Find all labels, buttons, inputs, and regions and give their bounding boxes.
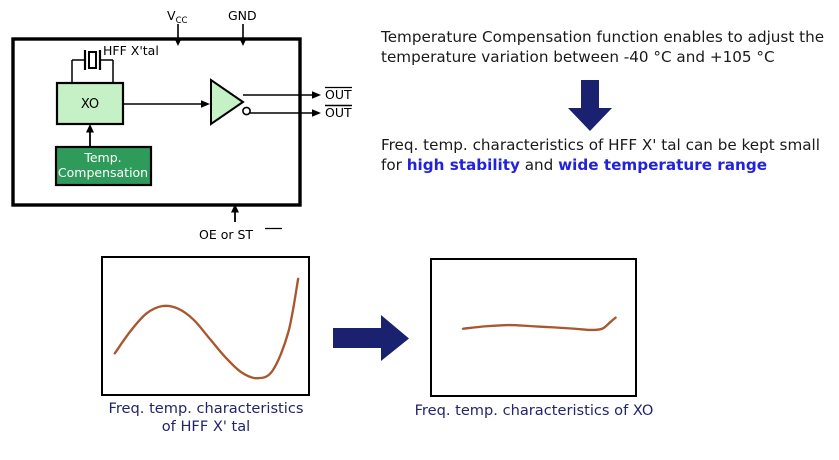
temp-compensation-label-line2: Compensation <box>58 165 148 180</box>
inverter-bubble <box>243 107 250 114</box>
tempcomp-to-xo-arrow <box>86 124 94 147</box>
gnd-label: GND <box>228 8 257 23</box>
vcc-label: VCC <box>167 8 187 26</box>
out-true-label-group: OUT <box>325 87 352 102</box>
paragraph-one: Temperature Compensation function enable… <box>381 28 831 67</box>
out-complement-label: OUT <box>325 105 352 120</box>
paragraph-two: Freq. temp. characteristics of HFF X' ta… <box>381 136 821 175</box>
highlight-high-stability: high stability <box>407 156 520 174</box>
caption-xo: Freq. temp. characteristics of XO <box>378 402 690 420</box>
output-buffer <box>211 80 250 124</box>
control-pin-label: OE or ST <box>199 227 253 242</box>
explanation-text-panel: Temperature Compensation function enable… <box>381 28 831 67</box>
out-true-label: OUT <box>325 87 352 102</box>
right-arrow <box>333 315 410 362</box>
xo-to-buffer-line <box>123 100 210 108</box>
out-complement-line <box>250 109 321 117</box>
curve-xo <box>463 318 616 330</box>
caption-xo-line1: Freq. temp. characteristics of XO <box>378 402 690 420</box>
crystal-label: HFF X'tal <box>103 43 159 58</box>
chart-hff-xtal <box>101 256 310 396</box>
down-arrow <box>566 80 614 132</box>
block-diagram: VCC GND HFF X'tal <box>0 0 372 250</box>
gnd-pin-arrow <box>239 24 247 46</box>
caption-hff-xtal-line2: of HFF X' tal <box>83 418 329 436</box>
paragraph-two-part2: and <box>520 156 558 174</box>
out-complement-label-group: OUT <box>325 105 352 120</box>
caption-hff-xtal-line1: Freq. temp. characteristics <box>83 400 329 418</box>
xo-block-label: XO <box>81 97 99 112</box>
chart-xo <box>430 258 637 397</box>
highlight-wide-temperature-range: wide temperature range <box>558 156 767 174</box>
vcc-pin-arrow <box>174 24 182 46</box>
curve-hff-xtal <box>115 279 298 378</box>
caption-hff-xtal: Freq. temp. characteristics of HFF X' ta… <box>83 400 329 436</box>
temp-compensation-label-line1: Temp. <box>83 150 121 165</box>
out-true-line <box>243 91 321 99</box>
